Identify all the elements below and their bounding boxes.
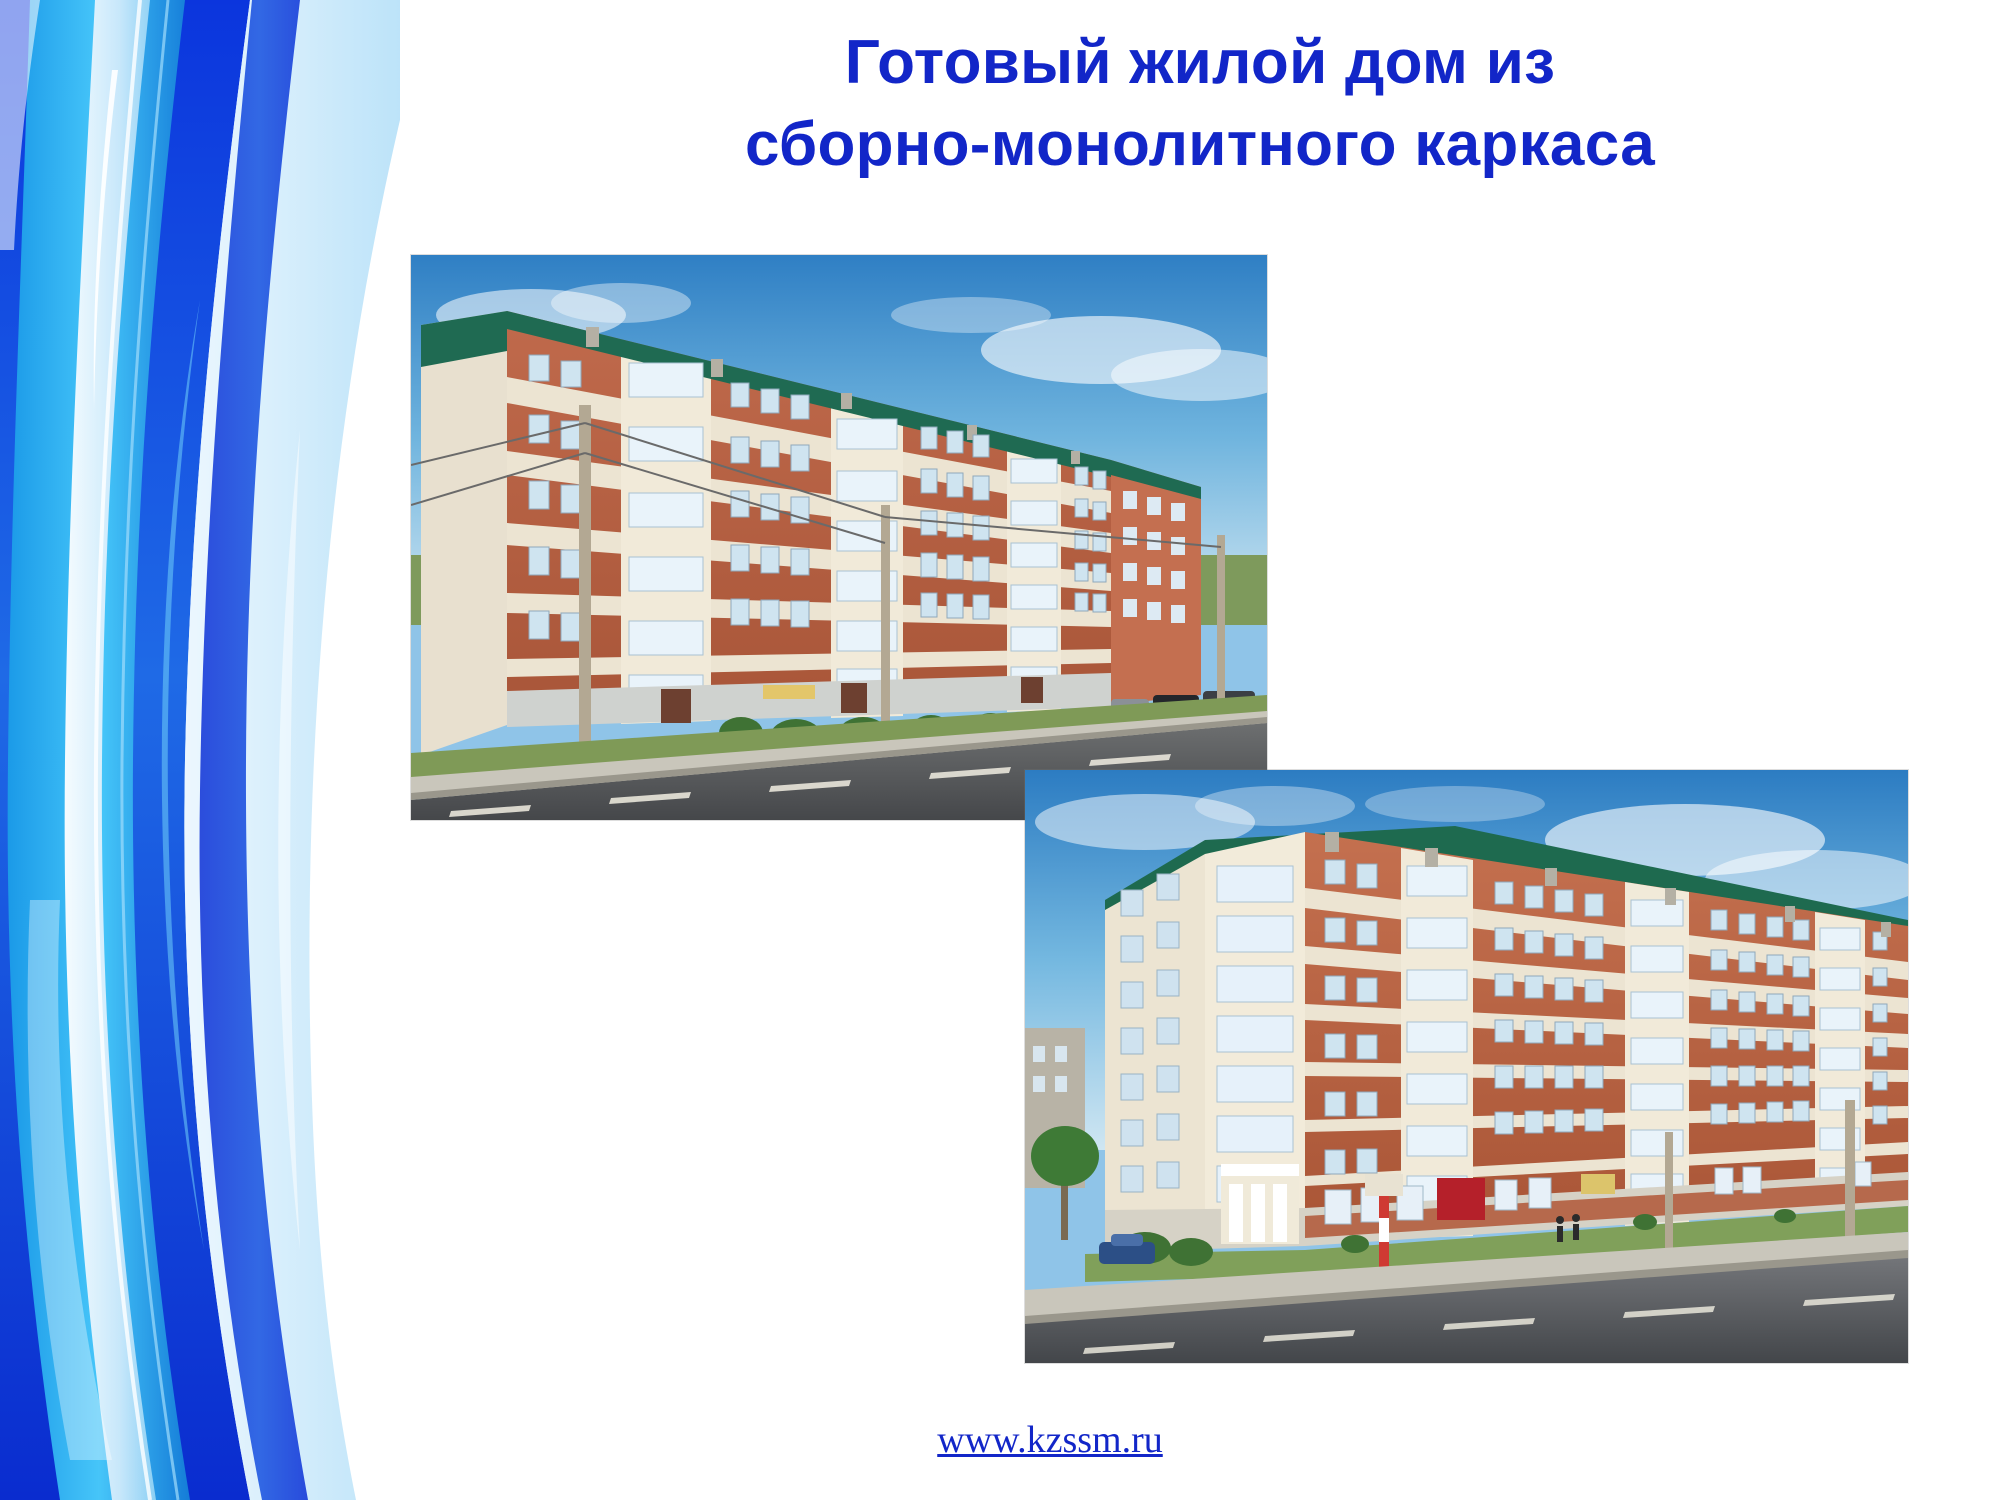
slide: Готовый жилой дом из сборно-монолитного … (0, 0, 2000, 1500)
photo-apartment-building-street-view (411, 255, 1267, 820)
page-title-line-1: Готовый жилой дом из (430, 22, 1970, 104)
page-title-line-2: сборно-монолитного каркаса (430, 104, 1970, 186)
blue-ribbon-band (0, 0, 400, 1500)
page-title: Готовый жилой дом из сборно-монолитного … (430, 22, 1970, 186)
photo-apartment-building-corner-view (1025, 770, 1908, 1363)
website-link[interactable]: www.kzssm.ru (937, 1419, 1163, 1461)
footer-link-container: www.kzssm.ru (830, 1418, 1270, 1462)
